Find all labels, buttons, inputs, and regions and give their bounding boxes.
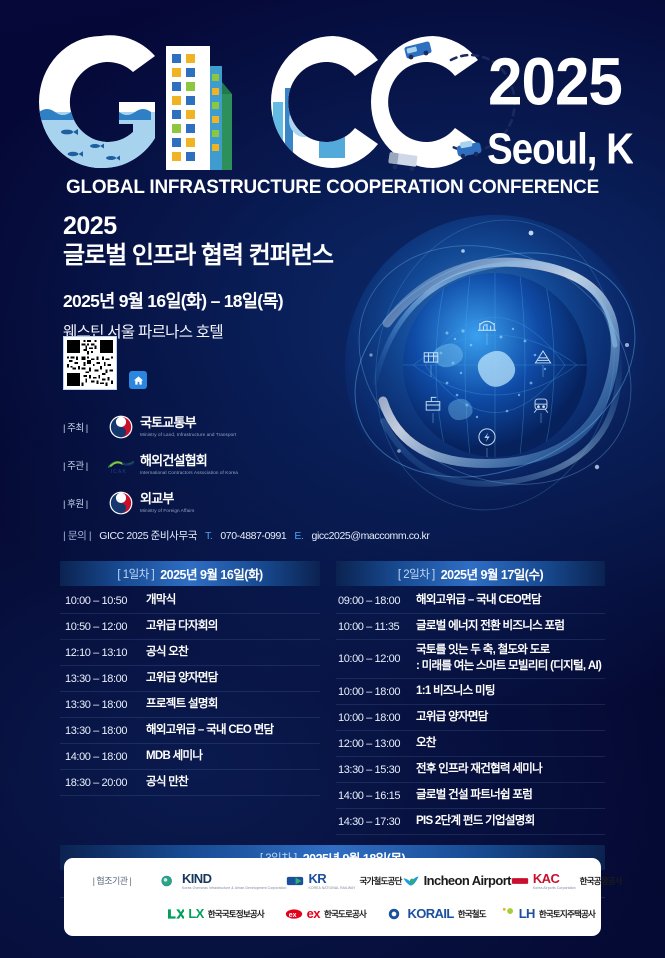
svg-text:ICAK: ICAK bbox=[111, 469, 127, 475]
kr-logo bbox=[286, 874, 304, 888]
contact-phone[interactable]: 070-4887-0991 bbox=[220, 530, 286, 542]
schedule-row-time: 14:00 – 18:00 bbox=[60, 751, 146, 763]
schedule-row-time: 13:30 – 18:00 bbox=[60, 673, 146, 685]
partner-name-ko: 한국토지주택공사 bbox=[539, 908, 595, 920]
schedule-row-time: 12:10 – 13:10 bbox=[60, 647, 146, 659]
partner-row-2: LX한국국토정보공사exex한국도로공사KORAIL한국철도LH한국토지주택공사 bbox=[64, 897, 601, 930]
organizer-row: | 주관 | ICAK 해외건설협회 International Contrac… bbox=[63, 446, 373, 484]
partner-wordmark: KORAIL bbox=[407, 906, 453, 921]
contact-phone-label: T. bbox=[205, 530, 212, 542]
schedule-day2: [ 2일차 ] 2025년 9월 17일(수) 09:00 – 18:00해외고… bbox=[336, 561, 605, 835]
contact-office: GICC 2025 준비사무국 bbox=[99, 528, 197, 543]
schedule-row-title: 글로벌 건설 파트너쉽 포럼 bbox=[416, 788, 532, 804]
schedule-row-title: 국토를 잇는 두 축, 철도와 도로: 미래를 여는 스마트 모빌리티 (디지털… bbox=[416, 643, 601, 675]
schedule-row-title: 전후 인프라 재건협력 세미나 bbox=[416, 762, 542, 778]
day2-header: [ 2일차 ] 2025년 9월 17일(수) bbox=[336, 561, 605, 586]
organizer-name-ko: 국토교통부 bbox=[140, 416, 236, 430]
schedule-row-time: 12:00 – 13:00 bbox=[336, 738, 416, 750]
contact-line: | 문의 | GICC 2025 준비사무국 T. 070-4887-0991 … bbox=[63, 528, 429, 543]
schedule-row: 10:00 – 18:00고위급 양자면담 bbox=[336, 705, 605, 731]
icak-glyph: ICAK bbox=[107, 453, 135, 477]
svg-text:ex: ex bbox=[288, 911, 296, 918]
taegeuk-icon bbox=[107, 415, 135, 439]
partner-wordmark: KIND bbox=[182, 871, 286, 886]
gicc-logo: 2025 Seoul, Korea bbox=[0, 28, 665, 178]
home-icon[interactable] bbox=[129, 371, 147, 389]
kind-logo bbox=[160, 874, 178, 888]
schedule-row: 12:10 – 13:10공식 오찬 bbox=[60, 640, 320, 666]
partner-name-ko: 국가철도공단 bbox=[359, 875, 401, 887]
schedule-row-title: 고위급 다자회의 bbox=[146, 619, 218, 635]
schedule-row: 10:00 – 10:50개막식 bbox=[60, 588, 320, 614]
schedule-day1: [ 1일차 ] 2025년 9월 16일(화) 10:00 – 10:50개막식… bbox=[60, 561, 320, 835]
partner-logo[interactable]: KRKOREA NATIONAL RAILWAY국가철도공단 bbox=[286, 871, 401, 890]
partner-row-1: | 협조기관 | KINDKorea Overseas Infrastructu… bbox=[64, 864, 601, 897]
intro-dates: 2025년 9월 16일(화) – 18일(목) bbox=[63, 288, 363, 313]
lx-logo bbox=[166, 907, 184, 921]
partner-wordmark: ex bbox=[307, 906, 320, 921]
day1-rows: 10:00 – 10:50개막식10:50 – 12:00고위급 다자회의12:… bbox=[60, 586, 320, 796]
partner-logo[interactable]: KINDKorea Overseas Infrastructure & Urba… bbox=[160, 871, 286, 890]
schedule-row-title: 해외고위급 – 국내 CEO 면담 bbox=[146, 723, 273, 739]
schedule-row: 10:00 – 12:00국토를 잇는 두 축, 철도와 도로: 미래를 여는 … bbox=[336, 640, 605, 679]
schedule-row: 10:00 – 18:001:1 비즈니스 미팅 bbox=[336, 679, 605, 705]
partner-logo[interactable]: Incheon Airport bbox=[402, 873, 511, 888]
schedule-row: 14:00 – 18:00MDB 세미나 bbox=[60, 744, 320, 770]
partner-logos-panel: | 협조기관 | KINDKorea Overseas Infrastructu… bbox=[64, 858, 601, 936]
logo-letter-g bbox=[39, 35, 159, 172]
gicc-logo-svg: 2025 Seoul, Korea bbox=[33, 28, 633, 178]
taegeuk-glyph bbox=[109, 491, 133, 515]
schedule-row-time: 10:00 – 10:50 bbox=[60, 595, 146, 607]
ex-logo: ex bbox=[285, 907, 303, 921]
organizer-tag: | 후원 | bbox=[63, 496, 107, 510]
schedule-row-time: 10:50 – 12:00 bbox=[60, 621, 146, 633]
organizer-name-en: Ministry of Land, Infrastructure and Tra… bbox=[140, 432, 236, 438]
schedule-row-title: 공식 오찬 bbox=[146, 645, 188, 661]
icak-icon: ICAK bbox=[107, 453, 135, 477]
schedule-row: 14:00 – 16:15글로벌 건설 파트너쉽 포럼 bbox=[336, 783, 605, 809]
korail-logo bbox=[385, 907, 403, 921]
organizer-name-ko: 외교부 bbox=[140, 492, 194, 506]
schedule-row: 09:00 – 18:00해외고위급 – 국내 CEO면담 bbox=[336, 588, 605, 614]
partner-logo[interactable]: LX한국국토정보공사 bbox=[160, 906, 270, 921]
taegeuk-glyph bbox=[109, 415, 133, 439]
logo-year: 2025 bbox=[488, 44, 622, 119]
incheon-logo bbox=[402, 874, 420, 888]
contact-email[interactable]: gicc2025@maccomm.co.kr bbox=[312, 530, 430, 542]
kac-logo bbox=[511, 874, 529, 888]
partner-wordmark: LX bbox=[188, 906, 203, 921]
globe-graphic bbox=[335, 205, 655, 525]
partner-tag: | 협조기관 | bbox=[64, 874, 160, 887]
organizer-name-en: Ministry of Foreign Affairs bbox=[140, 508, 194, 514]
schedule-row: 12:00 – 13:00오찬 bbox=[336, 731, 605, 757]
organizer-name-ko: 해외건설협회 bbox=[140, 454, 238, 468]
partner-name-ko: 한국국토정보공사 bbox=[208, 908, 264, 920]
partner-name-en: Korea Airports Corporation bbox=[533, 886, 576, 890]
schedule-row: 13:30 – 18:00해외고위급 – 국내 CEO 면담 bbox=[60, 718, 320, 744]
organizer-tag: | 주최 | bbox=[63, 420, 107, 434]
logo-letter-i-building bbox=[166, 46, 232, 170]
qr-row bbox=[63, 336, 147, 390]
schedule-row-title: 개막식 bbox=[146, 593, 176, 609]
schedule-row-time: 13:30 – 15:30 bbox=[336, 764, 416, 776]
gicc-poster: 2025 Seoul, Korea GLOBAL INFRASTRUCTURE … bbox=[0, 0, 665, 958]
schedule-row-time: 10:00 – 12:00 bbox=[336, 653, 416, 665]
contact-tag: | 문의 | bbox=[63, 528, 91, 543]
day1-date: 2025년 9월 16일(화) bbox=[160, 564, 262, 583]
partner-name-ko: 한국철도 bbox=[458, 908, 486, 920]
qr-code[interactable] bbox=[63, 336, 117, 390]
schedule-row-time: 10:00 – 18:00 bbox=[336, 686, 416, 698]
schedule-row-title: 글로벌 에너지 전환 비즈니스 포럼 bbox=[416, 619, 564, 635]
schedule-row-title: 오찬 bbox=[416, 736, 436, 752]
intro-korean-title: 글로벌 인프라 협력 컨퍼런스 bbox=[63, 241, 363, 270]
schedule-row: 10:50 – 12:00고위급 다자회의 bbox=[60, 614, 320, 640]
home-glyph bbox=[133, 375, 144, 386]
partner-name-ko: 한국공항공사 bbox=[580, 875, 622, 887]
schedule-row-title: 1:1 비즈니스 미팅 bbox=[416, 684, 495, 700]
partner-wordmark: Incheon Airport bbox=[424, 873, 511, 888]
schedule-row-time: 10:00 – 18:00 bbox=[336, 712, 416, 724]
schedule-block: [ 1일차 ] 2025년 9월 16일(화) 10:00 – 10:50개막식… bbox=[60, 561, 605, 898]
organizers-block: | 주최 | 국토교통부 Ministry of Land, Infrastru… bbox=[63, 408, 373, 522]
partner-wordmark: KR bbox=[308, 871, 355, 886]
organizer-tag: | 주관 | bbox=[63, 458, 107, 472]
partner-name-en: KOREA NATIONAL RAILWAY bbox=[308, 886, 355, 890]
schedule-row-time: 14:30 – 17:30 bbox=[336, 816, 416, 828]
day2-date: 2025년 9월 17일(수) bbox=[441, 564, 543, 583]
qr-code-svg bbox=[67, 340, 113, 386]
organizer-row: | 주최 | 국토교통부 Ministry of Land, Infrastru… bbox=[63, 408, 373, 446]
schedule-row-time: 09:00 – 18:00 bbox=[336, 595, 416, 607]
schedule-row-title: 프로젝트 설명회 bbox=[146, 697, 218, 713]
logo-location: Seoul, Korea bbox=[487, 124, 633, 173]
schedule-row-title: 고위급 양자면담 bbox=[146, 671, 218, 687]
partner-name-en: Korea Overseas Infrastructure & Urban De… bbox=[182, 886, 286, 890]
schedule-row: 13:30 – 18:00프로젝트 설명회 bbox=[60, 692, 320, 718]
partner-logo[interactable]: LH한국토지주택공사 bbox=[491, 906, 601, 921]
intro-block: 2025 글로벌 인프라 협력 컨퍼런스 2025년 9월 16일(화) – 1… bbox=[63, 212, 363, 342]
partner-logo[interactable]: KACKorea Airports Corporation한국공항공사 bbox=[511, 871, 622, 890]
day2-label: [ 2일차 ] bbox=[398, 566, 435, 582]
schedule-row: 10:00 – 11:35글로벌 에너지 전환 비즈니스 포럼 bbox=[336, 614, 605, 640]
schedule-row-title: PIS 2단계 펀드 기업설명회 bbox=[416, 814, 535, 830]
schedule-row: 14:30 – 17:30PIS 2단계 펀드 기업설명회 bbox=[336, 809, 605, 835]
schedule-row: 18:30 – 20:00공식 만찬 bbox=[60, 770, 320, 796]
partner-logo[interactable]: KORAIL한국철도 bbox=[381, 906, 491, 921]
organizer-row: | 후원 | 외교부 Ministry of Foreign Affairs bbox=[63, 484, 373, 522]
schedule-row-title: MDB 세미나 bbox=[146, 749, 202, 765]
organizer-name-en: International Contractors Association of… bbox=[140, 470, 238, 476]
schedule-row-time: 18:30 – 20:00 bbox=[60, 777, 146, 789]
schedule-row: 13:30 – 18:00고위급 양자면담 bbox=[60, 666, 320, 692]
taegeuk-icon bbox=[107, 491, 135, 515]
conference-tagline: GLOBAL INFRASTRUCTURE COOPERATION CONFER… bbox=[10, 176, 655, 199]
partner-wordmark: LH bbox=[519, 906, 535, 921]
partner-logo[interactable]: exex한국도로공사 bbox=[270, 906, 380, 921]
schedule-row: 13:30 – 15:30전후 인프라 재건협력 세미나 bbox=[336, 757, 605, 783]
intro-year: 2025 bbox=[63, 212, 363, 240]
contact-email-label: E. bbox=[294, 530, 303, 542]
schedule-row-time: 13:30 – 18:00 bbox=[60, 725, 146, 737]
partner-name-ko: 한국도로공사 bbox=[324, 908, 366, 920]
logo-letter-c-plant bbox=[271, 36, 378, 168]
schedule-row-time: 14:00 – 16:15 bbox=[336, 790, 416, 802]
partner-wordmark: KAC bbox=[533, 871, 576, 886]
schedule-row-time: 10:00 – 11:35 bbox=[336, 621, 416, 633]
schedule-row-time: 13:30 – 18:00 bbox=[60, 699, 146, 711]
schedule-row-title: 고위급 양자면담 bbox=[416, 710, 488, 726]
day1-label: [ 1일차 ] bbox=[117, 566, 154, 582]
day2-rows: 09:00 – 18:00해외고위급 – 국내 CEO면담10:00 – 11:… bbox=[336, 586, 605, 835]
schedule-row-title: 해외고위급 – 국내 CEO면담 bbox=[416, 593, 541, 609]
lh-logo bbox=[497, 907, 515, 921]
day1-header: [ 1일차 ] 2025년 9월 16일(화) bbox=[60, 561, 320, 586]
schedule-row-title: 공식 만찬 bbox=[146, 775, 188, 791]
